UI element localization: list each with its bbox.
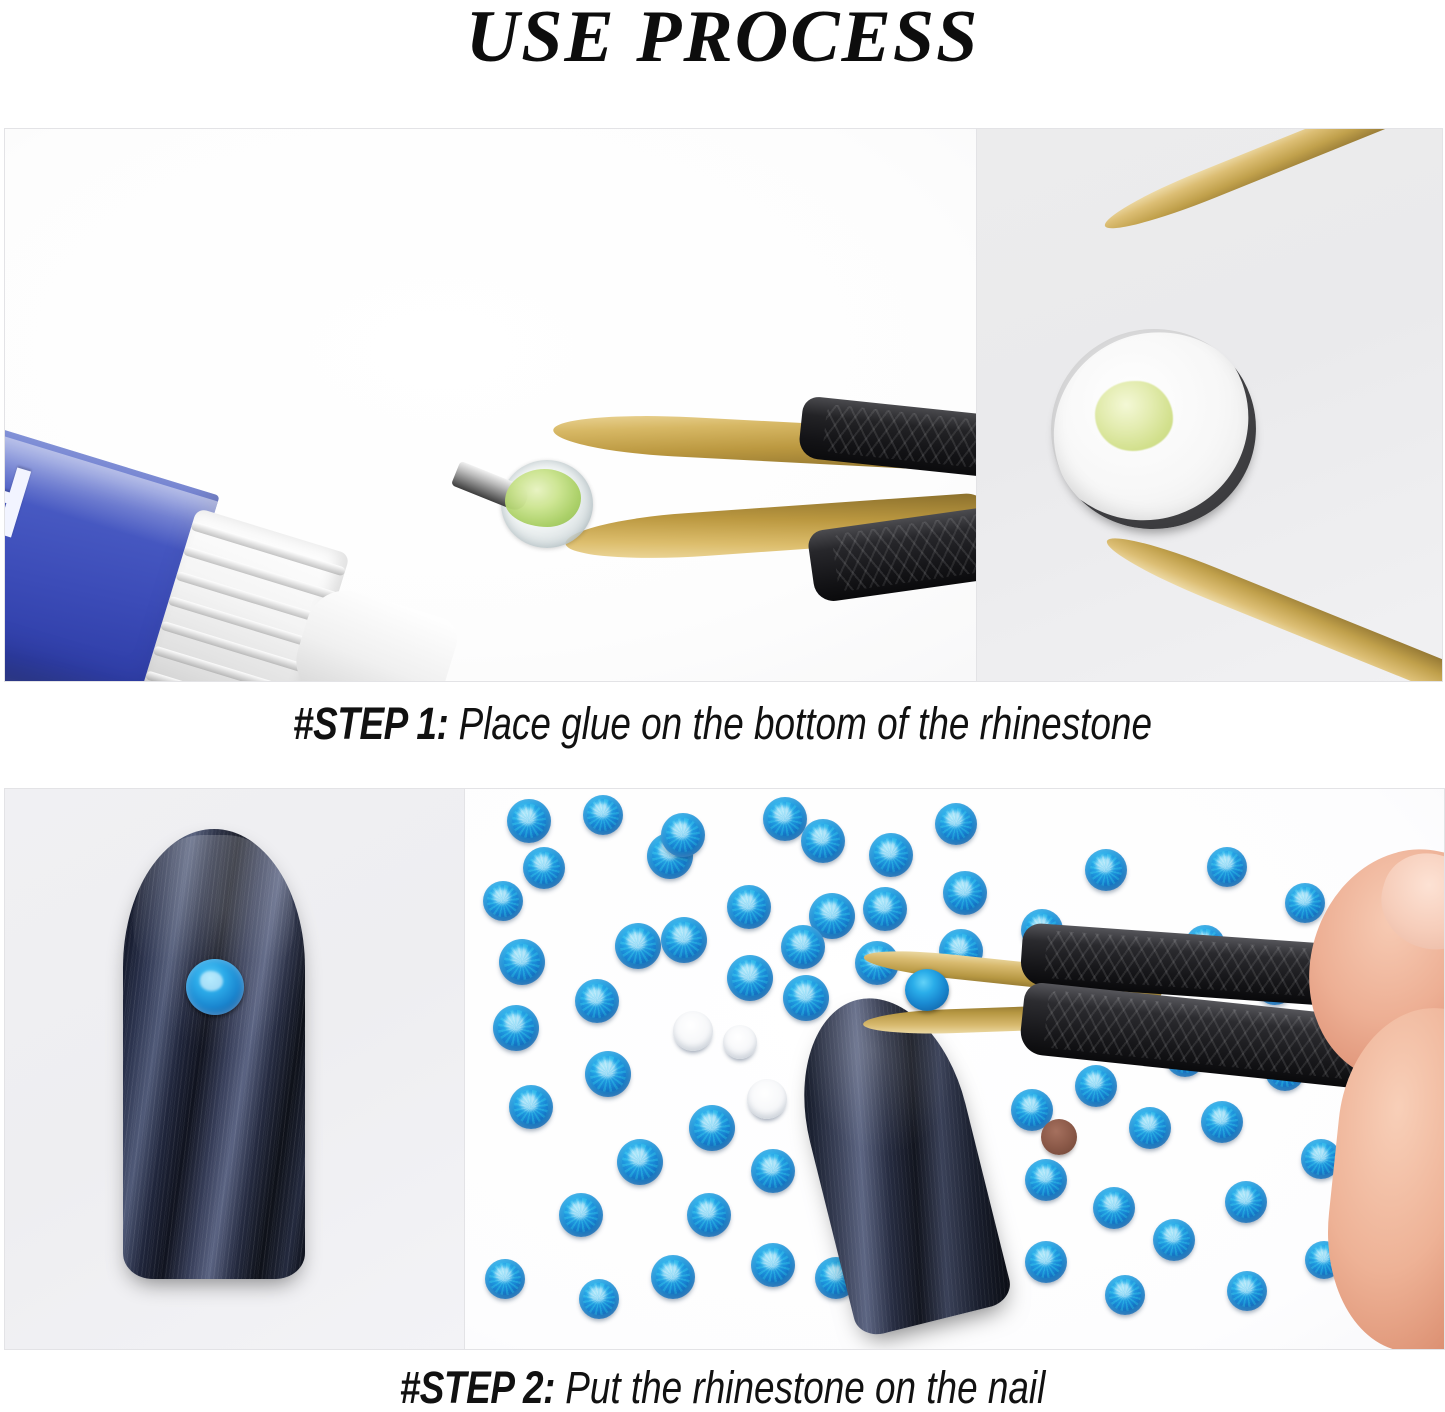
rhinestone (485, 1259, 525, 1299)
rhinestone (1093, 1187, 1135, 1229)
applied-rhinestone (186, 959, 244, 1015)
rhinestone (651, 1255, 695, 1299)
black-nail-tip (779, 981, 1014, 1340)
step-2-tag: #STEP 2: (400, 1362, 555, 1412)
rhinestone (1285, 883, 1325, 923)
rhinestone (935, 803, 977, 845)
step-1-image-row: G Rh (4, 128, 1445, 682)
rhinestone (483, 881, 523, 921)
rhinestone-foil-back (723, 1025, 757, 1059)
rhinestone (661, 813, 705, 857)
tweezer-black-handle-upper (798, 395, 977, 488)
finished-nail-photo (4, 788, 465, 1350)
rhinestone (1225, 1181, 1267, 1223)
rhinestone (523, 847, 565, 889)
rhinestone (1201, 1101, 1243, 1143)
scattered-rhinestones-photo (465, 788, 1445, 1350)
rhinestone (615, 923, 661, 969)
rhinestone (507, 799, 551, 843)
press-on-nail-tip (123, 829, 305, 1279)
rhinestone (575, 979, 619, 1023)
rhinestone (509, 1085, 553, 1129)
rhinestone (1207, 847, 1247, 887)
rhinestone (781, 925, 825, 969)
rhinestone (559, 1193, 603, 1237)
rhinestone (943, 871, 987, 915)
step-2-image-row (4, 788, 1445, 1350)
rhinestone (727, 885, 771, 929)
rhinestone (1025, 1159, 1067, 1201)
page-title: USE PROCESS (0, 0, 1445, 80)
rhinestone-foil-back (747, 1079, 787, 1119)
rhinestone-glue-bottle: G Rh (4, 405, 277, 682)
rhinestone (687, 1193, 731, 1237)
rhinestone (493, 1005, 539, 1051)
rhinestone (617, 1139, 663, 1185)
infographic-page: USE PROCESS G Rh (0, 0, 1445, 1412)
rhinestone (869, 833, 913, 877)
rhinestone (751, 1149, 795, 1193)
step-2-caption: #STEP 2: Put the rhinestone on the nail (130, 1362, 1315, 1412)
rhinestone (1227, 1271, 1267, 1311)
rhinestone (1025, 1241, 1067, 1283)
rhinestone-being-placed (905, 969, 949, 1011)
tweezer-gold-tip-lower (1101, 526, 1443, 682)
stone-in-tweezers-photo (977, 128, 1443, 682)
step-1-caption: #STEP 1: Place glue on the bottom of the… (130, 698, 1315, 750)
rhinestone (763, 797, 807, 841)
tweezer-gold-tip-upper (1099, 128, 1443, 240)
rhinestone (583, 795, 623, 835)
rhinestone (661, 917, 707, 963)
rhinestone (1075, 1065, 1117, 1107)
rhinestone (689, 1105, 735, 1151)
glue-drop (505, 469, 581, 527)
rhinestone-foil-back (673, 1011, 713, 1051)
glue-applicator-photo: G Rh (4, 128, 977, 682)
rhinestone (751, 1243, 795, 1287)
step-2-text: Put the rhinestone on the nail (555, 1362, 1045, 1412)
rhinestone (863, 887, 907, 931)
rhinestone (1153, 1219, 1195, 1261)
rhinestone (1105, 1275, 1145, 1315)
rhinestone (1129, 1107, 1171, 1149)
step-1-text: Place glue on the bottom of the rhinesto… (448, 698, 1152, 749)
rhinestone (727, 955, 773, 1001)
rhinestone (579, 1279, 619, 1319)
rhinestone (499, 939, 545, 985)
rhinestone (585, 1051, 631, 1097)
glue-drop (1095, 381, 1173, 451)
rhinestone (801, 819, 845, 863)
rhinestone (783, 975, 829, 1021)
step-1-tag: #STEP 1: (293, 698, 448, 749)
rhinestone (1085, 849, 1127, 891)
rhinestone-foil-back (1041, 1119, 1077, 1155)
